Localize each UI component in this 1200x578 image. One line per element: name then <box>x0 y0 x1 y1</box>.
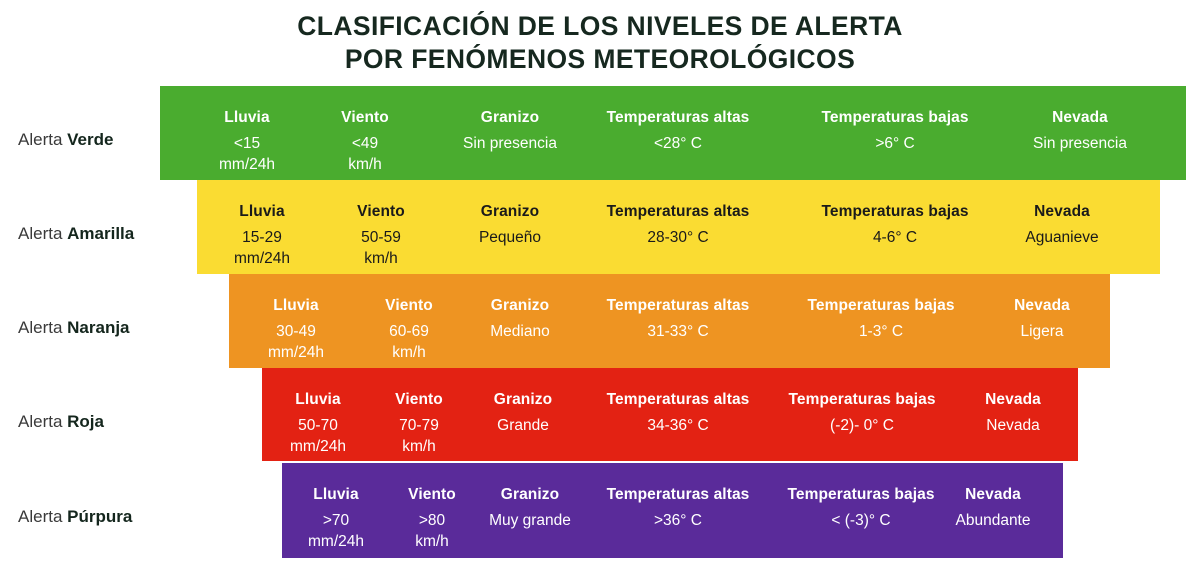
alert-bar-roja: Lluvia50-70mm/24hViento70-79km/hGranizoG… <box>262 368 1078 461</box>
cell-value: Nevada <box>903 415 1123 436</box>
alert-bar-naranja: Lluvia30-49mm/24hViento60-69km/hGranizoM… <box>229 274 1110 368</box>
cell-header: Nevada <box>903 392 1123 408</box>
alert-bar-amarilla: Lluvia15-29mm/24hViento50-59km/hGranizoP… <box>197 180 1160 274</box>
cell-header: Nevada <box>952 204 1172 220</box>
cell-value: <28° C <box>568 133 788 154</box>
cell-value: km/h <box>309 436 529 457</box>
cell-header: Nevada <box>970 110 1190 126</box>
cell-naranja-temperaturas-altas: Temperaturas altas31-33° C <box>568 298 788 342</box>
cell-value: Aguanieve <box>952 227 1172 248</box>
cell-value: km/h <box>322 531 542 552</box>
alert-bars: Lluvia<15mm/24hViento<49km/hGranizoSin p… <box>0 0 1200 578</box>
cell-header: Temperaturas altas <box>568 298 788 314</box>
cell-naranja-nevada: NevadaLigera <box>932 298 1152 342</box>
cell-verde-nevada: NevadaSin presencia <box>970 110 1190 154</box>
cell-value: 28-30° C <box>568 227 788 248</box>
cell-value: km/h <box>255 154 475 175</box>
alert-bar-purpura: Lluvia>70mm/24hViento>80km/hGranizoMuy g… <box>282 463 1063 558</box>
cell-amarilla-temperaturas-altas: Temperaturas altas28-30° C <box>568 204 788 248</box>
cell-header: Temperaturas altas <box>568 204 788 220</box>
cell-value: Ligera <box>932 321 1152 342</box>
cell-amarilla-nevada: NevadaAguanieve <box>952 204 1172 248</box>
cell-header: Nevada <box>883 487 1103 503</box>
cell-roja-nevada: NevadaNevada <box>903 392 1123 436</box>
cell-value: km/h <box>271 248 491 269</box>
cell-purpura-nevada: NevadaAbundante <box>883 487 1103 531</box>
alert-bar-verde: Lluvia<15mm/24hViento<49km/hGranizoSin p… <box>160 86 1186 180</box>
infographic-root: CLASIFICACIÓN DE LOS NIVELES DE ALERTA P… <box>0 0 1200 578</box>
cell-value: 31-33° C <box>568 321 788 342</box>
cell-value: km/h <box>299 342 519 363</box>
cell-header: Nevada <box>932 298 1152 314</box>
cell-value: Sin presencia <box>970 133 1190 154</box>
cell-value: Abundante <box>883 510 1103 531</box>
cell-header: Temperaturas altas <box>568 110 788 126</box>
cell-verde-temperaturas-altas: Temperaturas altas<28° C <box>568 110 788 154</box>
